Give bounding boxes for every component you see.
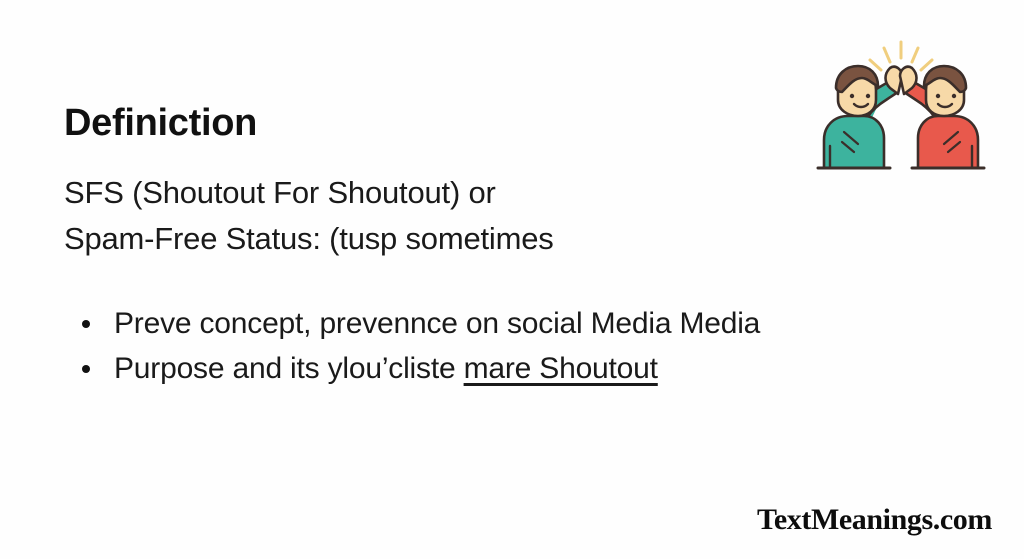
site-wordmark: TextMeanings.com — [757, 503, 992, 537]
page-title: Definiction — [64, 104, 257, 142]
list-item: Purpose and its ylou’cliste mare Shoutou… — [76, 348, 906, 389]
intro-line-1: SFS (Shoutout For Shoutout) or — [64, 170, 554, 216]
list-item-label: Purpose and its ylou’cliste mare Shoutou… — [114, 348, 906, 389]
slide-canvas: Definiction SFS (Shoutout For Shoutout) … — [0, 0, 1024, 559]
list-item-label: Preve concept, prevennce on social Media… — [114, 303, 906, 344]
high-five-illustration-svg — [806, 36, 996, 176]
list-item-text: Purpose and its ylou’cliste — [114, 352, 464, 385]
bullet-dot-icon — [82, 320, 90, 328]
list-item: Preve concept, prevennce on social Media… — [76, 303, 906, 344]
list-item-underlined-text: mare Shoutout — [464, 352, 658, 385]
two-people-high-five-icon — [806, 36, 996, 176]
intro-line-2: Spam-Free Status: (tusp sometimes — [64, 216, 554, 262]
bullet-list: Preve concept, prevennce on social Media… — [76, 303, 906, 393]
bullet-dot-icon — [82, 365, 90, 373]
intro-paragraph: SFS (Shoutout For Shoutout) or Spam-Free… — [64, 170, 554, 262]
